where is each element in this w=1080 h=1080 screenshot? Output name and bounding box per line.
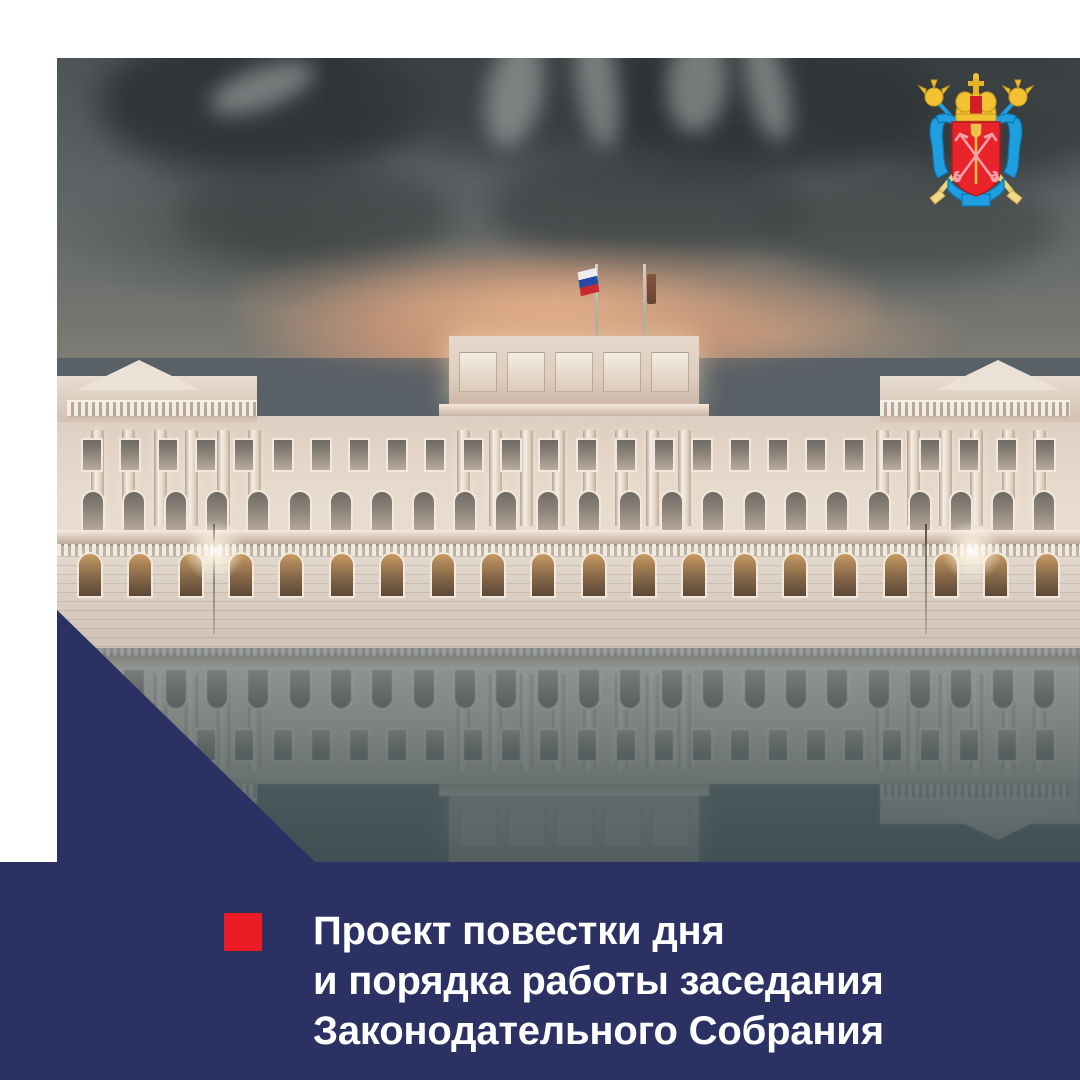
red-square-marker	[224, 913, 262, 951]
arched-window-row	[81, 490, 1056, 534]
russian-flag-icon	[578, 268, 600, 296]
upper-window-row	[81, 728, 1056, 762]
right-pediment	[936, 360, 1060, 390]
left-white-margin	[0, 610, 57, 862]
right-pediment	[936, 810, 1060, 840]
attic-cornice	[439, 784, 709, 796]
page-title: Проект повестки дня и порядка работы зас…	[313, 906, 1053, 1056]
roof-balustrade	[880, 400, 1070, 418]
saint-petersburg-coat-of-arms-icon	[912, 72, 1040, 220]
palace-facade	[57, 338, 1080, 648]
attic-cornice	[439, 404, 709, 416]
secondary-flag-icon	[647, 274, 656, 304]
title-line-2: и порядка работы заседания	[313, 956, 1053, 1006]
attic-panel-row	[459, 808, 689, 848]
roof-balustrade	[880, 782, 1070, 800]
title-line-3: Законодательного Собрания	[313, 1006, 1053, 1056]
title-line-1: Проект повестки дня	[313, 906, 1053, 956]
lower-balustrade	[57, 648, 1080, 656]
lamp-post	[925, 524, 927, 634]
upper-window-row	[81, 438, 1056, 472]
main-cornice	[57, 654, 1080, 670]
arched-window-row	[81, 666, 1056, 710]
ground-window-row	[77, 552, 1060, 598]
poster-canvas: Проект повестки дня и порядка работы зас…	[0, 0, 1080, 1080]
roof-balustrade	[67, 400, 257, 418]
left-pediment	[77, 360, 201, 390]
attic-panel-row	[459, 352, 689, 392]
lamp-post	[213, 524, 215, 634]
